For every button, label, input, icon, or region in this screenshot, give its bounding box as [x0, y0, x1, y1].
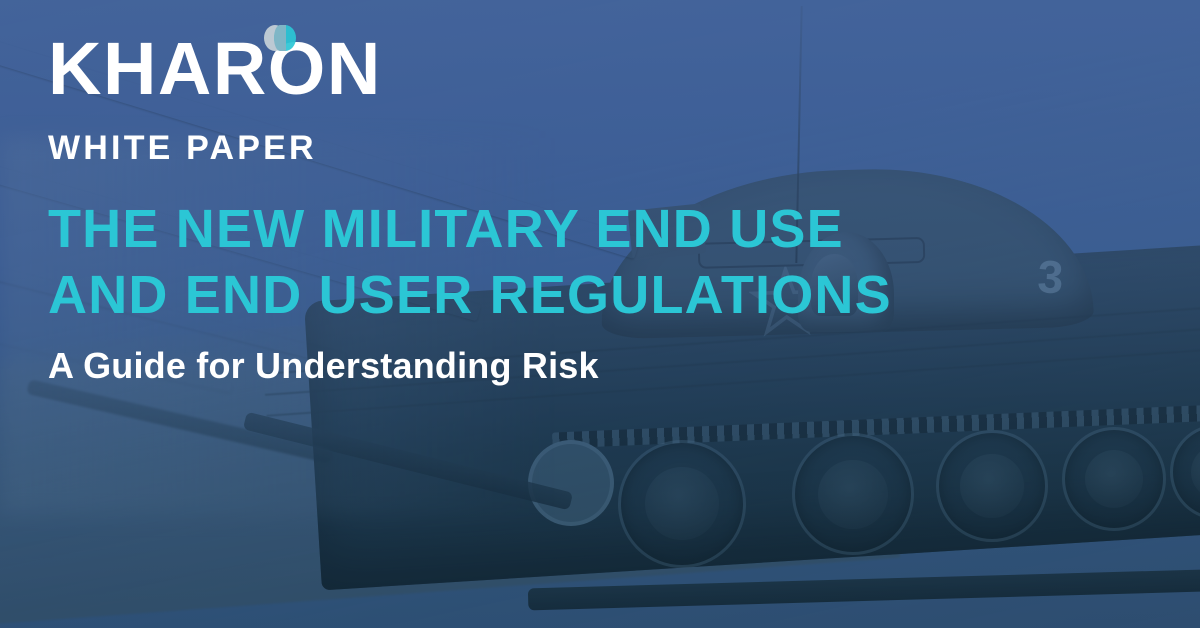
cover-content: KHARON WHITE PAPER THE NEW MILITARY END … — [0, 0, 1200, 628]
brand-wordmark: KHARON — [48, 32, 382, 106]
document-type-label: WHITE PAPER — [48, 128, 1200, 168]
white-paper-cover: 3 — [0, 0, 1200, 628]
kharon-venn-mark-icon — [263, 21, 297, 55]
page-subtitle: A Guide for Understanding Risk — [48, 344, 1200, 388]
page-title-line-1: THE NEW MILITARY END USE — [48, 196, 1048, 262]
page-title-line-2: AND END USER REGULATIONS — [48, 262, 1048, 328]
brand-logo[interactable]: KHARON — [48, 32, 1200, 106]
page-title: THE NEW MILITARY END USE AND END USER RE… — [48, 196, 1048, 328]
venn-circle-overlap — [274, 25, 286, 51]
